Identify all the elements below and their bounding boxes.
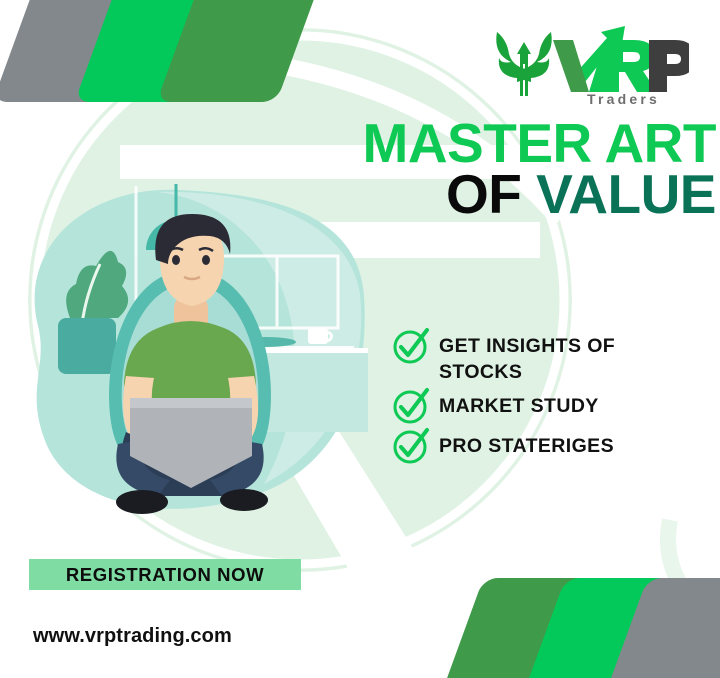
- bull-head-icon: [496, 32, 551, 96]
- list-item: GET INSIGHTS OF STOCKS: [391, 328, 691, 386]
- check-circle-icon: [391, 386, 431, 426]
- poster-canvas: Traders MASTER ART OF VALUE GET INSIGHTS…: [0, 0, 720, 678]
- page-title: MASTER ART OF VALUE: [292, 118, 716, 220]
- registration-cta-button[interactable]: REGISTRATION NOW: [29, 559, 301, 590]
- feature-list: GET INSIGHTS OF STOCKS MARKET STUDY PRO …: [391, 328, 691, 468]
- headline-line-2: OF VALUE: [292, 169, 716, 220]
- headline-value: VALUE: [536, 163, 716, 225]
- list-item: MARKET STUDY: [391, 388, 691, 426]
- logo-letter-p: [649, 40, 689, 92]
- headline-line-1: MASTER ART: [292, 118, 716, 169]
- list-item-label: GET INSIGHTS OF STOCKS: [439, 328, 691, 386]
- check-circle-icon: [391, 426, 431, 466]
- website-url[interactable]: www.vrptrading.com: [33, 625, 232, 648]
- list-item-label: MARKET STUDY: [439, 388, 599, 420]
- logo-tagline: Traders: [587, 91, 660, 107]
- logo-letter-r: [601, 40, 657, 92]
- headline-of: OF: [446, 163, 521, 225]
- check-circle-icon: [391, 326, 431, 366]
- list-item-label: PRO STATERIGES: [439, 428, 614, 460]
- vrp-traders-logo[interactable]: Traders: [489, 16, 689, 108]
- list-item: PRO STATERIGES: [391, 428, 691, 466]
- man-with-laptop-illustration: [8, 176, 374, 532]
- registration-cta-label: REGISTRATION NOW: [66, 564, 264, 586]
